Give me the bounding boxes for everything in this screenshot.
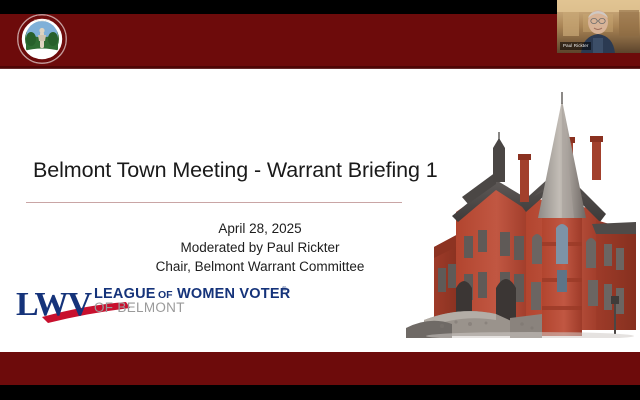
svg-text:BELMONT: BELMONT [34,19,49,23]
svg-text:WOMEN VOTERS: WOMEN VOTERS [177,286,290,302]
subtitle-line-role: Chair, Belmont Warrant Committee [60,257,460,276]
slide-header-band [0,14,640,68]
speaker-video-tile[interactable]: Paul Rickter [557,0,640,53]
title-divider [26,202,402,203]
bottom-letterbox [0,385,640,400]
historic-town-hall-building-icon [400,92,640,338]
presentation-slide: BELMONT Belmont Town Meeting - Warrant B… [0,0,640,352]
svg-text:LWV: LWV [16,286,93,323]
top-letterbox [0,0,557,14]
speaker-name-badge: Paul Rickter [560,42,591,51]
svg-text:OF BELMONT: OF BELMONT [94,300,185,315]
slide-footer-band [0,352,640,385]
lwv-belmont-logo: LWV LEAGUE OF WOMEN VOTERS ® OF BELMONT [14,281,290,323]
slide-subtitle-block: April 28, 2025 Moderated by Paul Rickter… [60,219,460,276]
subtitle-line-moderator: Moderated by Paul Rickter [60,238,460,257]
slide-header-band-shadow [0,66,640,69]
subtitle-line-date: April 28, 2025 [60,219,460,238]
svg-text:®: ® [282,286,287,293]
town-seal-icon: BELMONT [18,15,66,63]
meeting-screen: BELMONT Belmont Town Meeting - Warrant B… [0,0,640,400]
slide-title: Belmont Town Meeting - Warrant Briefing … [33,157,463,183]
